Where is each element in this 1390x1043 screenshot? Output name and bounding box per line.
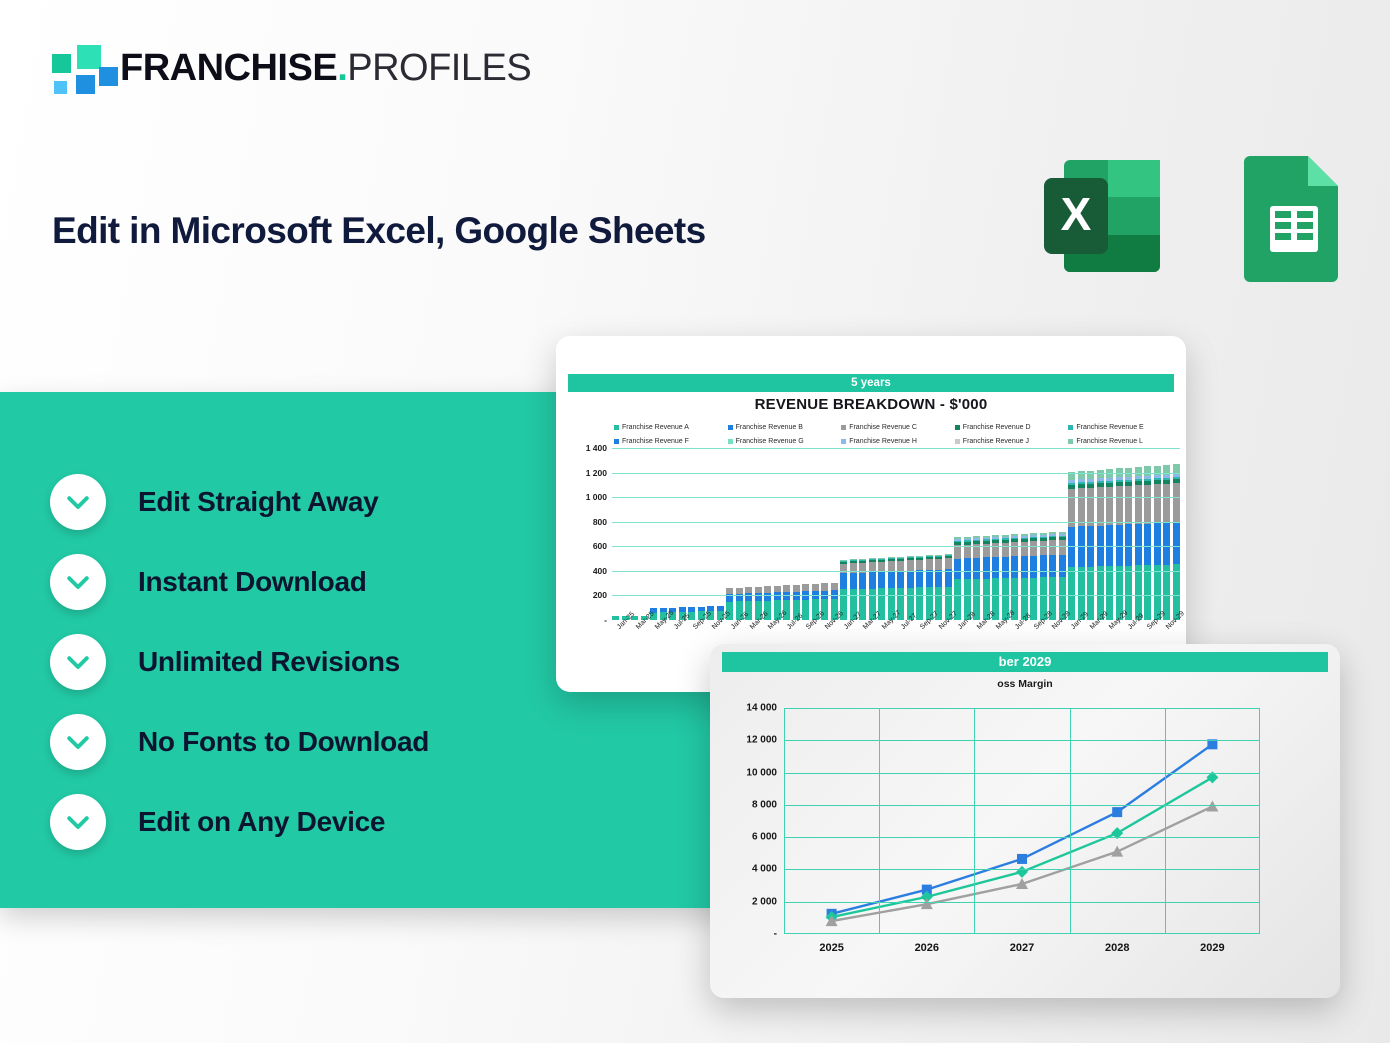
x-axis-tick-label: Sep-29 bbox=[1146, 626, 1151, 631]
bar-segment bbox=[1154, 466, 1161, 476]
bar-segment bbox=[916, 560, 923, 571]
bar-segment bbox=[793, 585, 800, 592]
margin-chart-subtitle: oss Margin bbox=[710, 678, 1340, 690]
feature-item[interactable]: No Fonts to Download bbox=[50, 702, 670, 782]
bar-segment bbox=[1116, 486, 1123, 525]
brand-wordmark: FRANCHISE.PROFILES bbox=[120, 49, 531, 87]
bar-segment bbox=[945, 558, 952, 569]
bar-segment bbox=[945, 569, 952, 586]
x-axis-tick-label: Nov-28 bbox=[1051, 626, 1056, 631]
bar-segment bbox=[1021, 542, 1028, 556]
bar-segment bbox=[1144, 485, 1151, 524]
bar-segment bbox=[1030, 556, 1037, 578]
x-axis-tick-label: Jan-27 bbox=[843, 626, 848, 631]
gridline bbox=[612, 546, 1180, 547]
revenue-chart-title: REVENUE BREAKDOWN - $'000 bbox=[556, 396, 1186, 413]
bar-segment bbox=[1097, 470, 1104, 478]
bar-column bbox=[916, 556, 923, 620]
svg-text:X: X bbox=[1061, 188, 1092, 240]
x-axis-tick-label: Jan-29 bbox=[1070, 626, 1075, 631]
bar-segment bbox=[916, 570, 923, 587]
chevron-down-icon bbox=[50, 714, 106, 770]
margin-card-banner: ber 2029 bbox=[722, 652, 1328, 672]
brand-name-thin: PROFILES bbox=[347, 47, 531, 89]
legend-entry: Franchise Revenue H bbox=[841, 434, 953, 448]
bar-segment bbox=[907, 571, 914, 588]
bar-column bbox=[888, 557, 895, 620]
bar-segment bbox=[1144, 524, 1151, 566]
legend-entry: Franchise Revenue D bbox=[955, 420, 1067, 434]
bar-segment bbox=[1002, 557, 1009, 579]
data-point-marker bbox=[1112, 807, 1122, 817]
x-axis-tick-label: Jul-25 bbox=[673, 626, 678, 631]
chevron-down-icon bbox=[50, 794, 106, 850]
feature-item-label: Edit Straight Away bbox=[138, 486, 378, 518]
gross-margin-card: ber 2029 oss Margin -2 0004 0006 0008 00… bbox=[710, 644, 1340, 998]
bar-segment bbox=[897, 561, 904, 572]
bar-segment bbox=[973, 558, 980, 579]
x-axis-tick-label: Mar-29 bbox=[1089, 626, 1094, 631]
bar-segment bbox=[1173, 523, 1180, 565]
bar-segment bbox=[821, 583, 828, 590]
bar-segment bbox=[1106, 487, 1113, 526]
bar-segment bbox=[926, 570, 933, 587]
x-axis-tick-label: Jul-29 bbox=[1127, 626, 1132, 631]
x-axis-tick-label: Jan-26 bbox=[730, 626, 735, 631]
x-axis-tick-label: Jul-27 bbox=[900, 626, 905, 631]
bar-segment bbox=[983, 557, 990, 578]
bar-segment bbox=[1154, 484, 1161, 523]
gridline bbox=[784, 805, 1260, 806]
x-axis-tick-label: Mar-28 bbox=[976, 626, 981, 631]
x-axis-tick-label: May-26 bbox=[767, 626, 772, 631]
bar-column bbox=[1116, 468, 1123, 620]
bar-segment bbox=[1011, 556, 1018, 578]
gridline bbox=[879, 708, 880, 934]
legend-label: Franchise Revenue A bbox=[622, 424, 689, 431]
gridline bbox=[784, 740, 1260, 741]
x-axis-tick-label: 2026 bbox=[879, 942, 974, 962]
bar-segment bbox=[1144, 565, 1151, 620]
bar-segment bbox=[1030, 578, 1037, 621]
bar-column bbox=[926, 555, 933, 620]
bar-segment bbox=[831, 583, 838, 590]
bar-column bbox=[1154, 466, 1161, 621]
legend-entry: Franchise Revenue J bbox=[955, 434, 1067, 448]
bar-column bbox=[869, 558, 876, 620]
gridline bbox=[612, 448, 1180, 449]
y-axis-tick-label: 1 200 bbox=[586, 468, 607, 478]
bar-segment bbox=[1040, 555, 1047, 577]
bar-column bbox=[954, 537, 961, 620]
bar-segment bbox=[869, 572, 876, 588]
x-axis-tick-label: 2025 bbox=[784, 942, 879, 962]
gridline bbox=[784, 773, 1260, 774]
bar-segment bbox=[964, 558, 971, 579]
x-axis-tick-label: Nov-27 bbox=[938, 626, 943, 631]
bar-segment bbox=[1002, 543, 1009, 557]
chevron-down-icon bbox=[50, 474, 106, 530]
bar-segment bbox=[802, 584, 809, 591]
x-axis-tick-label: May-28 bbox=[995, 626, 1000, 631]
bar-segment bbox=[954, 559, 961, 580]
bar-segment bbox=[1097, 487, 1104, 525]
x-axis-tick-label: Sep-28 bbox=[1033, 626, 1038, 631]
page-title: Edit in Microsoft Excel, Google Sheets bbox=[52, 210, 706, 252]
margin-chart-xaxis: 20252026202720282029 bbox=[784, 942, 1260, 962]
gridline bbox=[612, 473, 1180, 474]
brand-name-bold: FRANCHISE bbox=[120, 47, 337, 89]
y-axis-tick-label: 14 000 bbox=[746, 703, 777, 714]
bar-column bbox=[1163, 465, 1170, 620]
gridline bbox=[1165, 708, 1166, 934]
x-axis-tick-label: May-25 bbox=[654, 626, 659, 631]
legend-label: Franchise Revenue H bbox=[849, 438, 917, 445]
bar-segment bbox=[850, 573, 857, 589]
revenue-bar-group bbox=[612, 448, 1180, 620]
feature-item-label: Unlimited Revisions bbox=[138, 646, 400, 678]
data-point-marker bbox=[1111, 846, 1123, 857]
y-axis-tick-label: 4 000 bbox=[752, 864, 777, 875]
bar-segment bbox=[1087, 567, 1094, 620]
bar-segment bbox=[1087, 488, 1094, 526]
x-axis-tick-label: Mar-27 bbox=[862, 626, 867, 631]
gridline bbox=[612, 522, 1180, 523]
gridline bbox=[784, 837, 1260, 838]
bar-segment bbox=[840, 573, 847, 589]
bar-segment bbox=[1125, 486, 1132, 525]
bar-segment bbox=[612, 616, 619, 620]
legend-entry: Franchise Revenue E bbox=[1068, 420, 1180, 434]
chevron-down-icon bbox=[50, 634, 106, 690]
bar-segment bbox=[1144, 466, 1151, 475]
brand-name-dot: . bbox=[337, 47, 347, 89]
bar-column bbox=[1125, 468, 1132, 620]
feature-item-label: Edit on Any Device bbox=[138, 806, 385, 838]
gridline bbox=[612, 571, 1180, 572]
legend-entry: Franchise Revenue F bbox=[614, 434, 726, 448]
bar-segment bbox=[992, 557, 999, 578]
bar-column bbox=[1173, 464, 1180, 620]
legend-swatch-icon bbox=[1068, 439, 1073, 444]
y-axis-tick-label: 10 000 bbox=[746, 767, 777, 778]
feature-item-label: Instant Download bbox=[138, 566, 367, 598]
bar-column bbox=[850, 559, 857, 620]
y-axis-tick-label: - bbox=[604, 615, 607, 625]
bar-segment bbox=[1154, 523, 1161, 565]
legend-swatch-icon bbox=[614, 425, 619, 430]
gridline bbox=[974, 708, 975, 934]
legend-entry: Franchise Revenue G bbox=[728, 434, 840, 448]
y-axis-tick-label: 6 000 bbox=[752, 832, 777, 843]
microsoft-excel-icon: X bbox=[1036, 148, 1172, 284]
bar-column bbox=[907, 556, 914, 620]
revenue-card-banner: 5 years bbox=[568, 374, 1174, 392]
data-point-marker bbox=[1017, 854, 1027, 864]
bar-segment bbox=[1163, 484, 1170, 523]
chevron-down-icon bbox=[50, 554, 106, 610]
bar-segment bbox=[774, 586, 781, 593]
gridline bbox=[1070, 708, 1071, 934]
bar-segment bbox=[859, 573, 866, 589]
legend-entry: Franchise Revenue C bbox=[841, 420, 953, 434]
x-axis-tick-label: 2028 bbox=[1070, 942, 1165, 962]
bar-column bbox=[1097, 470, 1104, 620]
x-axis-tick-label: Mar-26 bbox=[749, 626, 754, 631]
bar-column bbox=[983, 536, 990, 620]
x-axis-tick-label: 2027 bbox=[974, 942, 1069, 962]
bar-segment bbox=[907, 560, 914, 571]
y-axis-tick-label: 200 bbox=[593, 590, 607, 600]
promo-banner: FRANCHISE.PROFILES Edit in Microsoft Exc… bbox=[0, 0, 1390, 1043]
logo-squares-icon bbox=[46, 42, 104, 94]
y-axis-tick-label: 12 000 bbox=[746, 735, 777, 746]
x-axis-tick-label: May-27 bbox=[881, 626, 886, 631]
margin-line-series bbox=[784, 708, 1260, 934]
line-series bbox=[832, 777, 1213, 917]
bar-column bbox=[945, 554, 952, 620]
bar-segment bbox=[840, 564, 847, 574]
y-axis-tick-label: 1 400 bbox=[586, 443, 607, 453]
brand-logo: FRANCHISE.PROFILES bbox=[46, 42, 531, 94]
bar-segment bbox=[926, 559, 933, 570]
bar-column bbox=[1106, 469, 1113, 620]
bar-segment bbox=[1011, 542, 1018, 556]
bar-segment bbox=[1049, 540, 1056, 555]
legend-label: Franchise Revenue C bbox=[849, 424, 917, 431]
bar-segment bbox=[764, 586, 771, 593]
bar-segment bbox=[916, 587, 923, 620]
legend-entry: Franchise Revenue L bbox=[1068, 434, 1180, 448]
bar-column bbox=[859, 559, 866, 620]
bar-segment bbox=[1059, 555, 1066, 577]
revenue-chart-plot: -2004006008001 0001 2001 400 bbox=[612, 448, 1180, 620]
bar-segment bbox=[878, 572, 885, 588]
legend-label: Franchise Revenue G bbox=[736, 438, 804, 445]
data-point-marker bbox=[1016, 866, 1028, 878]
gridline bbox=[784, 869, 1260, 870]
legend-label: Franchise Revenue B bbox=[736, 424, 803, 431]
legend-swatch-icon bbox=[728, 425, 733, 430]
bar-segment bbox=[1040, 541, 1047, 556]
bar-column bbox=[973, 536, 980, 620]
bar-segment bbox=[1030, 541, 1037, 555]
y-axis-tick-label: - bbox=[774, 929, 777, 940]
bar-segment bbox=[888, 571, 895, 588]
x-axis-tick-label: 2029 bbox=[1165, 942, 1260, 962]
x-axis-tick-label: Nov-25 bbox=[711, 626, 716, 631]
bar-segment bbox=[812, 584, 819, 591]
legend-label: Franchise Revenue E bbox=[1076, 424, 1143, 431]
bar-segment bbox=[1135, 524, 1142, 565]
bar-segment bbox=[935, 570, 942, 587]
bar-segment bbox=[1106, 566, 1113, 620]
bar-segment bbox=[764, 593, 771, 601]
y-axis-tick-label: 600 bbox=[593, 541, 607, 551]
y-axis-tick-label: 400 bbox=[593, 566, 607, 576]
bar-column bbox=[1144, 466, 1151, 620]
legend-entry: Franchise Revenue B bbox=[728, 420, 840, 434]
y-axis-tick-label: 1 000 bbox=[586, 492, 607, 502]
x-axis-tick-label: Sep-25 bbox=[692, 626, 697, 631]
legend-swatch-icon bbox=[955, 425, 960, 430]
x-axis-tick-label: Sep-27 bbox=[919, 626, 924, 631]
x-axis-tick-label: Nov-26 bbox=[824, 626, 829, 631]
bar-column bbox=[878, 558, 885, 620]
bar-segment bbox=[755, 593, 762, 601]
bar-segment bbox=[1078, 488, 1085, 526]
bar-segment bbox=[1173, 483, 1180, 522]
legend-swatch-icon bbox=[841, 439, 846, 444]
legend-swatch-icon bbox=[955, 439, 960, 444]
legend-swatch-icon bbox=[1068, 425, 1073, 430]
legend-label: Franchise Revenue J bbox=[963, 438, 1029, 445]
x-axis-tick-label: Jul-28 bbox=[1014, 626, 1019, 631]
feature-item[interactable]: Edit on Any Device bbox=[50, 782, 670, 862]
bar-segment bbox=[992, 543, 999, 557]
bar-segment bbox=[1135, 485, 1142, 524]
bar-column bbox=[1002, 535, 1009, 620]
bar-column bbox=[992, 535, 999, 620]
bar-segment bbox=[783, 585, 790, 592]
legend-label: Franchise Revenue L bbox=[1076, 438, 1143, 445]
bar-segment bbox=[1049, 555, 1056, 577]
x-axis-tick-label: Mar-25 bbox=[635, 626, 640, 631]
google-sheets-icon bbox=[1244, 148, 1344, 284]
legend-swatch-icon bbox=[614, 439, 619, 444]
bar-segment bbox=[1163, 523, 1170, 565]
legend-entry: Franchise Revenue A bbox=[614, 420, 726, 434]
bar-column bbox=[802, 584, 809, 620]
bar-column bbox=[1059, 532, 1066, 620]
bar-segment bbox=[935, 559, 942, 570]
bar-column bbox=[612, 616, 619, 620]
x-axis-tick-label: Sep-26 bbox=[805, 626, 810, 631]
gridline bbox=[612, 595, 1180, 596]
margin-chart-plot: -2 0004 0006 0008 00010 00012 00014 000 bbox=[784, 708, 1260, 934]
bar-column bbox=[964, 537, 971, 620]
bar-segment bbox=[897, 571, 904, 588]
legend-swatch-icon bbox=[841, 425, 846, 430]
gridline bbox=[784, 902, 1260, 903]
x-axis-tick-label: Jul-26 bbox=[786, 626, 791, 631]
legend-label: Franchise Revenue D bbox=[963, 424, 1031, 431]
y-axis-tick-label: 2 000 bbox=[752, 896, 777, 907]
bar-segment bbox=[1021, 556, 1028, 578]
x-axis-tick-label: Jan-25 bbox=[616, 626, 621, 631]
gridline bbox=[612, 497, 1180, 498]
legend-label: Franchise Revenue F bbox=[622, 438, 689, 445]
data-point-marker bbox=[1206, 800, 1218, 811]
x-axis-tick-label: May-29 bbox=[1108, 626, 1113, 631]
y-axis-tick-label: 8 000 bbox=[752, 799, 777, 810]
y-axis-tick-label: 800 bbox=[593, 517, 607, 527]
bar-segment bbox=[1125, 524, 1132, 565]
revenue-breakdown-card: 5 years REVENUE BREAKDOWN - $'000 Franch… bbox=[556, 336, 1186, 692]
x-axis-tick-label: Nov-29 bbox=[1165, 626, 1170, 631]
legend-swatch-icon bbox=[728, 439, 733, 444]
x-axis-tick-label: Jan-28 bbox=[957, 626, 962, 631]
feature-item-label: No Fonts to Download bbox=[138, 726, 429, 758]
bar-segment bbox=[1135, 467, 1142, 476]
revenue-chart-legend: Franchise Revenue AFranchise Revenue BFr… bbox=[614, 420, 1180, 448]
bar-column bbox=[1135, 467, 1142, 620]
